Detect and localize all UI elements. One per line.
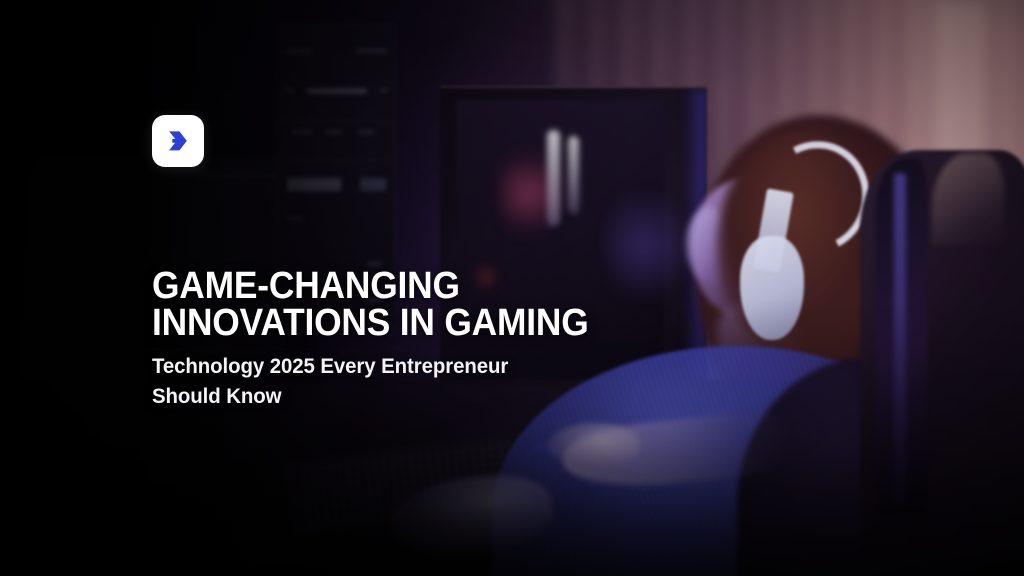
page-subtitle: Technology 2025 Every Entrepreneur Shoul… — [152, 351, 589, 412]
headline-text-block: GAME-CHANGING INNOVATIONS IN GAMING Tech… — [152, 268, 612, 412]
brand-logo-badge[interactable] — [152, 115, 204, 167]
article-hero-banner: GAME-CHANGING INNOVATIONS IN GAMING Tech… — [0, 0, 1024, 576]
headline-line-1: GAME-CHANGING — [152, 268, 580, 305]
headline-line-2: INNOVATIONS IN GAMING — [152, 305, 580, 342]
subhead-line-1: Technology 2025 Every Entrepreneur — [152, 351, 589, 382]
page-title: GAME-CHANGING INNOVATIONS IN GAMING — [152, 268, 580, 342]
chevron-arrow-logo-icon — [163, 126, 193, 156]
subhead-line-2: Should Know — [152, 381, 589, 412]
banner-overlay-content: GAME-CHANGING INNOVATIONS IN GAMING Tech… — [0, 0, 1024, 576]
